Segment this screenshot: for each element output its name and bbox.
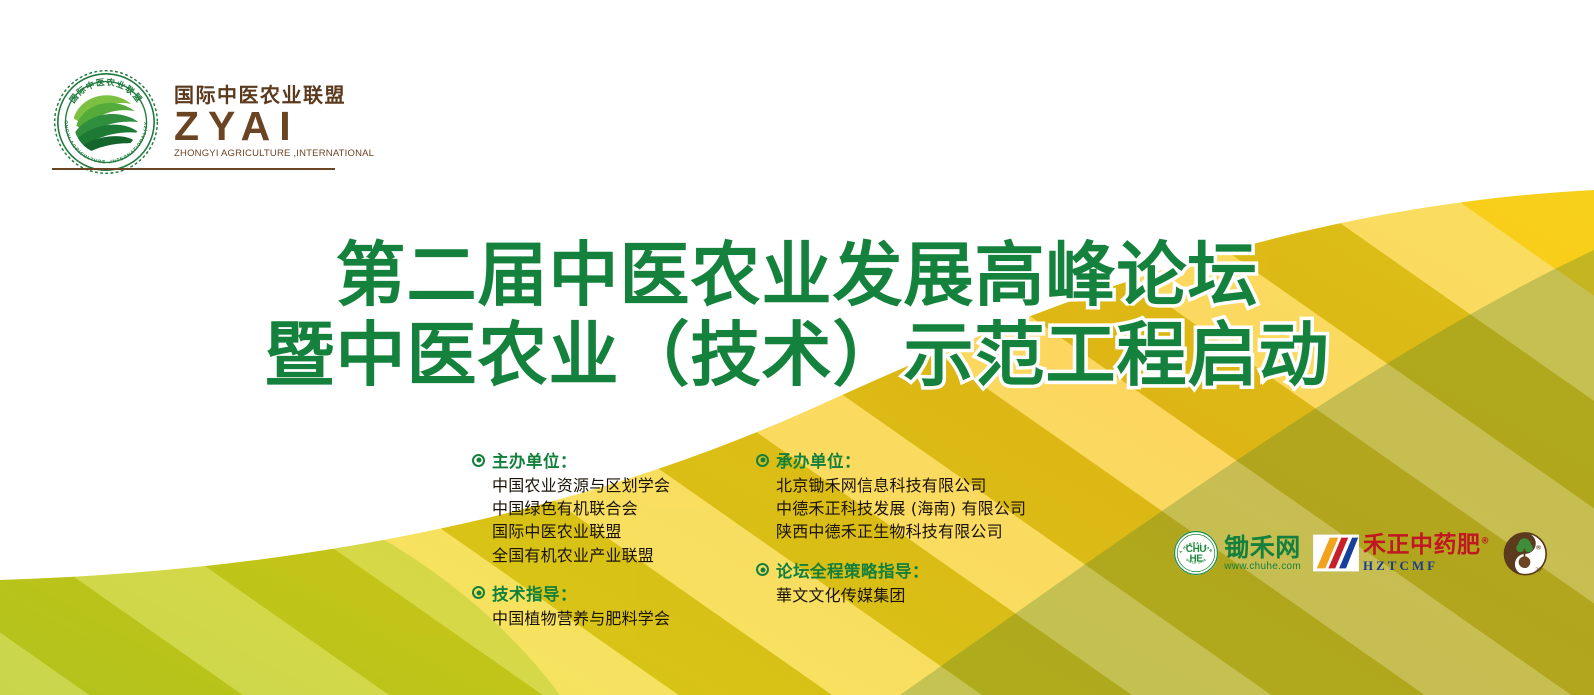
svg-text:30°: 30° <box>1535 567 1543 573</box>
hztcmf-name-cn: 禾正中药肥® <box>1363 534 1490 557</box>
list-item: 中国植物营养与肥料学会 <box>492 607 722 630</box>
list-item: 中德禾正科技发展 (海南) 有限公司 <box>776 497 1056 520</box>
credit-group: 主办单位： 中国农业资源与区划学会 中国绿色有机联合会 国际中医农业联盟 全国有… <box>472 448 722 567</box>
list-item: 北京锄禾网信息科技有限公司 <box>776 474 1056 497</box>
credit-heading: 技术指导： <box>492 581 577 605</box>
registered-mark: ® <box>1481 536 1491 546</box>
list-item: 華文文化传媒集团 <box>776 584 1056 607</box>
list-item: 陕西中德禾正生物科技有限公司 <box>776 520 1056 543</box>
logo-acronym: ZYAI <box>174 107 300 146</box>
list-item: 中国农业资源与区划学会 <box>492 474 722 497</box>
credit-heading-row: 技术指导： <box>472 581 722 605</box>
organisation-logo-lockup: 国际中医农业联盟 ZHONGYI AGRICULTURE ,INTERNATIO… <box>52 68 374 176</box>
list-item: 国际中医农业联盟 <box>492 520 722 543</box>
credit-heading-row: 承办单位： <box>756 448 1056 472</box>
ring-dot-bullet-icon <box>756 454 769 467</box>
hztcmf-wordmark: 禾正中药肥® HZTCMF <box>1363 534 1490 572</box>
tree-yinyang-seal-icon: ® 30° <box>1502 528 1552 578</box>
logo-name-cn: 国际中医农业联盟 <box>174 85 346 105</box>
credit-item-list: 中国植物营养与肥料学会 <box>472 607 722 630</box>
credit-item-list: 北京锄禾网信息科技有限公司 中德禾正科技发展 (海南) 有限公司 陕西中德禾正生… <box>756 474 1056 544</box>
credit-heading: 承办单位： <box>776 448 861 472</box>
credit-heading-row: 主办单位： <box>472 448 722 472</box>
chuhe-url: www.chuhe.com <box>1224 562 1301 572</box>
credits-column-right: 承办单位： 北京锄禾网信息科技有限公司 中德禾正科技发展 (海南) 有限公司 陕… <box>756 448 1056 644</box>
ring-dot-bullet-icon <box>472 586 485 599</box>
sponsor-logo-hztcmf[interactable]: 禾正中药肥® HZTCMF <box>1313 534 1490 572</box>
svg-text:®: ® <box>1536 544 1541 552</box>
credit-heading-row: 论坛全程策略指导： <box>756 558 1056 582</box>
zyai-circular-emblem-icon: 国际中医农业联盟 ZHONGYI AGRICULTURE ,INTERNATIO… <box>52 68 160 176</box>
credit-heading: 主办单位： <box>492 448 577 472</box>
chuhe-name-cn: 锄禾网 <box>1224 535 1301 560</box>
ring-dot-bullet-icon <box>756 563 769 576</box>
logo-name-en: ZHONGYI AGRICULTURE ,INTERNATIONAL <box>174 149 374 159</box>
chuhe-circular-seal-icon: CHINA HERBAL FARMING SINCE 2008 CHU HE <box>1173 530 1219 576</box>
credit-item-list: 華文文化传媒集团 <box>756 584 1056 607</box>
credit-item-list: 中国农业资源与区划学会 中国绿色有机联合会 国际中医农业联盟 全国有机农业产业联… <box>472 474 722 567</box>
credits-column-left: 主办单位： 中国农业资源与区划学会 中国绿色有机联合会 国际中医农业联盟 全国有… <box>472 448 722 644</box>
chuhe-wordmark: 锄禾网 www.chuhe.com <box>1224 535 1301 572</box>
list-item: 中国绿色有机联合会 <box>492 497 722 520</box>
credit-group: 论坛全程策略指导： 華文文化传媒集团 <box>756 558 1056 607</box>
sponsor-logo-tree-seal[interactable]: ® 30° <box>1502 528 1552 578</box>
credit-heading: 论坛全程策略指导： <box>776 558 929 582</box>
credit-group: 技术指导： 中国植物营养与肥料学会 <box>472 581 722 630</box>
sponsor-logo-chuhe[interactable]: CHINA HERBAL FARMING SINCE 2008 CHU HE 锄… <box>1173 530 1301 576</box>
list-item: 全国有机农业产业联盟 <box>492 544 722 567</box>
credits-block: 主办单位： 中国农业资源与区划学会 中国绿色有机联合会 国际中医农业联盟 全国有… <box>472 448 1056 644</box>
poster-canvas: 国际中医农业联盟 ZHONGYI AGRICULTURE ,INTERNATIO… <box>0 0 1594 695</box>
credit-group: 承办单位： 北京锄禾网信息科技有限公司 中德禾正科技发展 (海南) 有限公司 陕… <box>756 448 1056 544</box>
logo-divider-rule <box>52 168 335 170</box>
hz-stripes-icon <box>1313 534 1359 572</box>
sponsor-logo-strip: CHINA HERBAL FARMING SINCE 2008 CHU HE 锄… <box>1173 528 1552 578</box>
logo-wordmark: 国际中医农业联盟 ZYAI ZHONGYI AGRICULTURE ,INTER… <box>174 85 374 158</box>
svg-text:HE: HE <box>1190 553 1204 564</box>
ring-dot-bullet-icon <box>472 454 485 467</box>
hztcmf-name-en: HZTCMF <box>1363 559 1490 572</box>
